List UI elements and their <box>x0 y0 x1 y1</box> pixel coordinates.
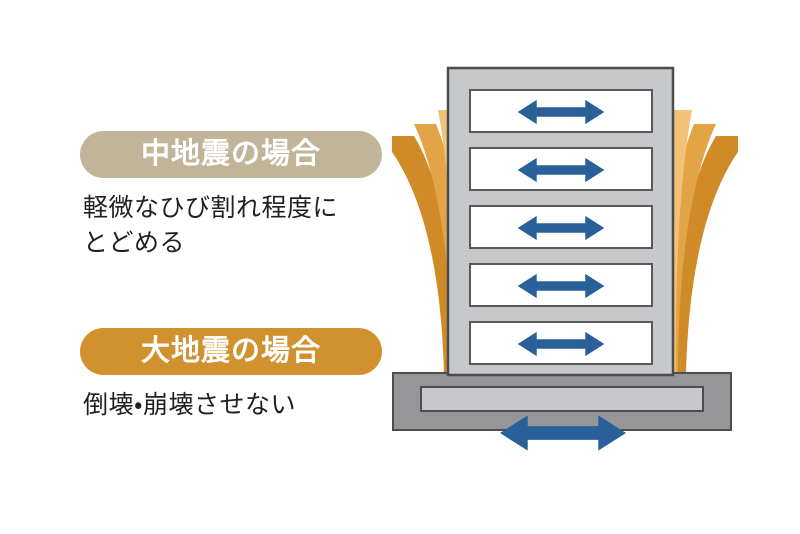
pill-label-severe-earthquake: 大地震の場合 <box>80 328 382 375</box>
body-text-severe-earthquake: 倒壊・崩壊させない <box>83 388 382 423</box>
body-text-moderate-earthquake: 軽微なひび割れ程度に とどめる <box>83 191 382 260</box>
building-illustration <box>370 40 760 490</box>
pill-label-moderate-earthquake: 中地震の場合 <box>80 131 382 178</box>
figure-canvas: 中地震の場合 軽微なひび割れ程度に とどめる 大地震の場合 倒壊・崩壊させない <box>0 0 800 534</box>
building-diagram-svg <box>370 40 760 490</box>
caption-block-severe-earthquake: 大地震の場合 倒壊・崩壊させない <box>80 328 382 423</box>
foundation-slab <box>393 373 731 430</box>
building-tower <box>448 68 673 375</box>
caption-block-moderate-earthquake: 中地震の場合 軽微なひび割れ程度に とどめる <box>80 131 382 260</box>
pill-label-text-severe: 大地震の場合 <box>141 337 321 366</box>
foundation-recess <box>421 387 703 411</box>
pill-label-text-moderate: 中地震の場合 <box>141 140 321 169</box>
